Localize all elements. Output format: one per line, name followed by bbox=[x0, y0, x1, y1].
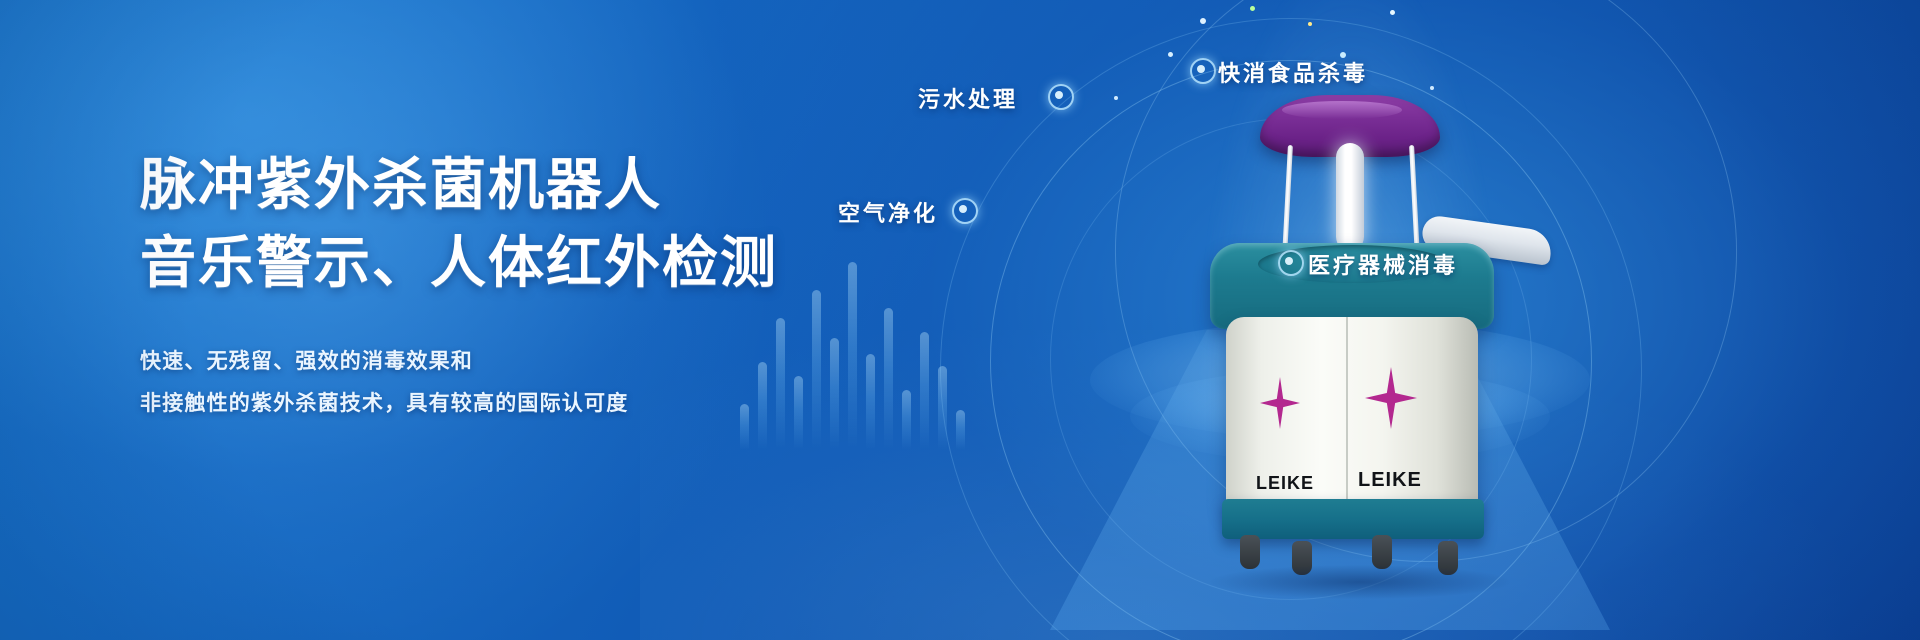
circle-node-icon bbox=[952, 198, 978, 224]
device-shadow bbox=[1210, 565, 1510, 599]
caster-wheel bbox=[1372, 535, 1392, 569]
sparkle-dot bbox=[1430, 86, 1434, 90]
promo-banner: 脉冲紫外杀菌机器人 音乐警示、人体红外检测 快速、无残留、强效的消毒效果和 非接… bbox=[0, 0, 1920, 640]
brand-label-left: LEIKE bbox=[1256, 473, 1314, 494]
headline-line-2: 音乐警示、人体红外检测 bbox=[140, 228, 900, 300]
subtitle-line-2: 非接触性的紫外杀菌技术，具有较高的国际认可度 bbox=[140, 382, 900, 424]
dome-highlight bbox=[1282, 101, 1402, 119]
lamp-strut bbox=[1409, 145, 1420, 257]
feature-tag-food[interactable]: 快消食品杀毒 bbox=[1218, 56, 1368, 88]
circle-node-icon bbox=[1048, 84, 1074, 110]
sparkle-dot bbox=[1390, 10, 1395, 15]
uv-bulb-icon bbox=[1336, 143, 1364, 251]
feature-tag-air[interactable]: 空气净化 bbox=[838, 196, 938, 228]
product-scene: LEIKE LEIKE 污水处理 快消食品杀毒 空气净化 医疗器械消毒 bbox=[900, 0, 1920, 640]
subtitle-line-1: 快速、无残留、强效的消毒效果和 bbox=[140, 340, 900, 382]
sparkle-dot bbox=[1200, 18, 1206, 24]
uv-disinfection-robot: LEIKE LEIKE bbox=[1150, 95, 1550, 515]
device-body-edge bbox=[1346, 317, 1348, 507]
sparkle-dot bbox=[1168, 52, 1173, 57]
device-plinth bbox=[1222, 499, 1484, 539]
banner-subcopy: 快速、无残留、强效的消毒效果和 非接触性的紫外杀菌技术，具有较高的国际认可度 bbox=[140, 340, 900, 424]
sparkle-dot bbox=[1308, 22, 1312, 26]
headline-line-1: 脉冲紫外杀菌机器人 bbox=[140, 150, 900, 222]
lamp-strut bbox=[1282, 145, 1293, 257]
sparkle-dot bbox=[1114, 96, 1118, 100]
brand-label-right: LEIKE bbox=[1358, 469, 1422, 492]
feature-tag-wastewater[interactable]: 污水处理 bbox=[918, 82, 1018, 114]
feature-tag-medical[interactable]: 医疗器械消毒 bbox=[1308, 248, 1458, 280]
circle-node-icon bbox=[1190, 58, 1216, 84]
circle-node-icon bbox=[1278, 250, 1304, 276]
banner-copy: 脉冲紫外杀菌机器人 音乐警示、人体红外检测 快速、无残留、强效的消毒效果和 非接… bbox=[140, 150, 900, 424]
caster-wheel bbox=[1240, 535, 1260, 569]
sparkle-dot bbox=[1250, 6, 1255, 11]
